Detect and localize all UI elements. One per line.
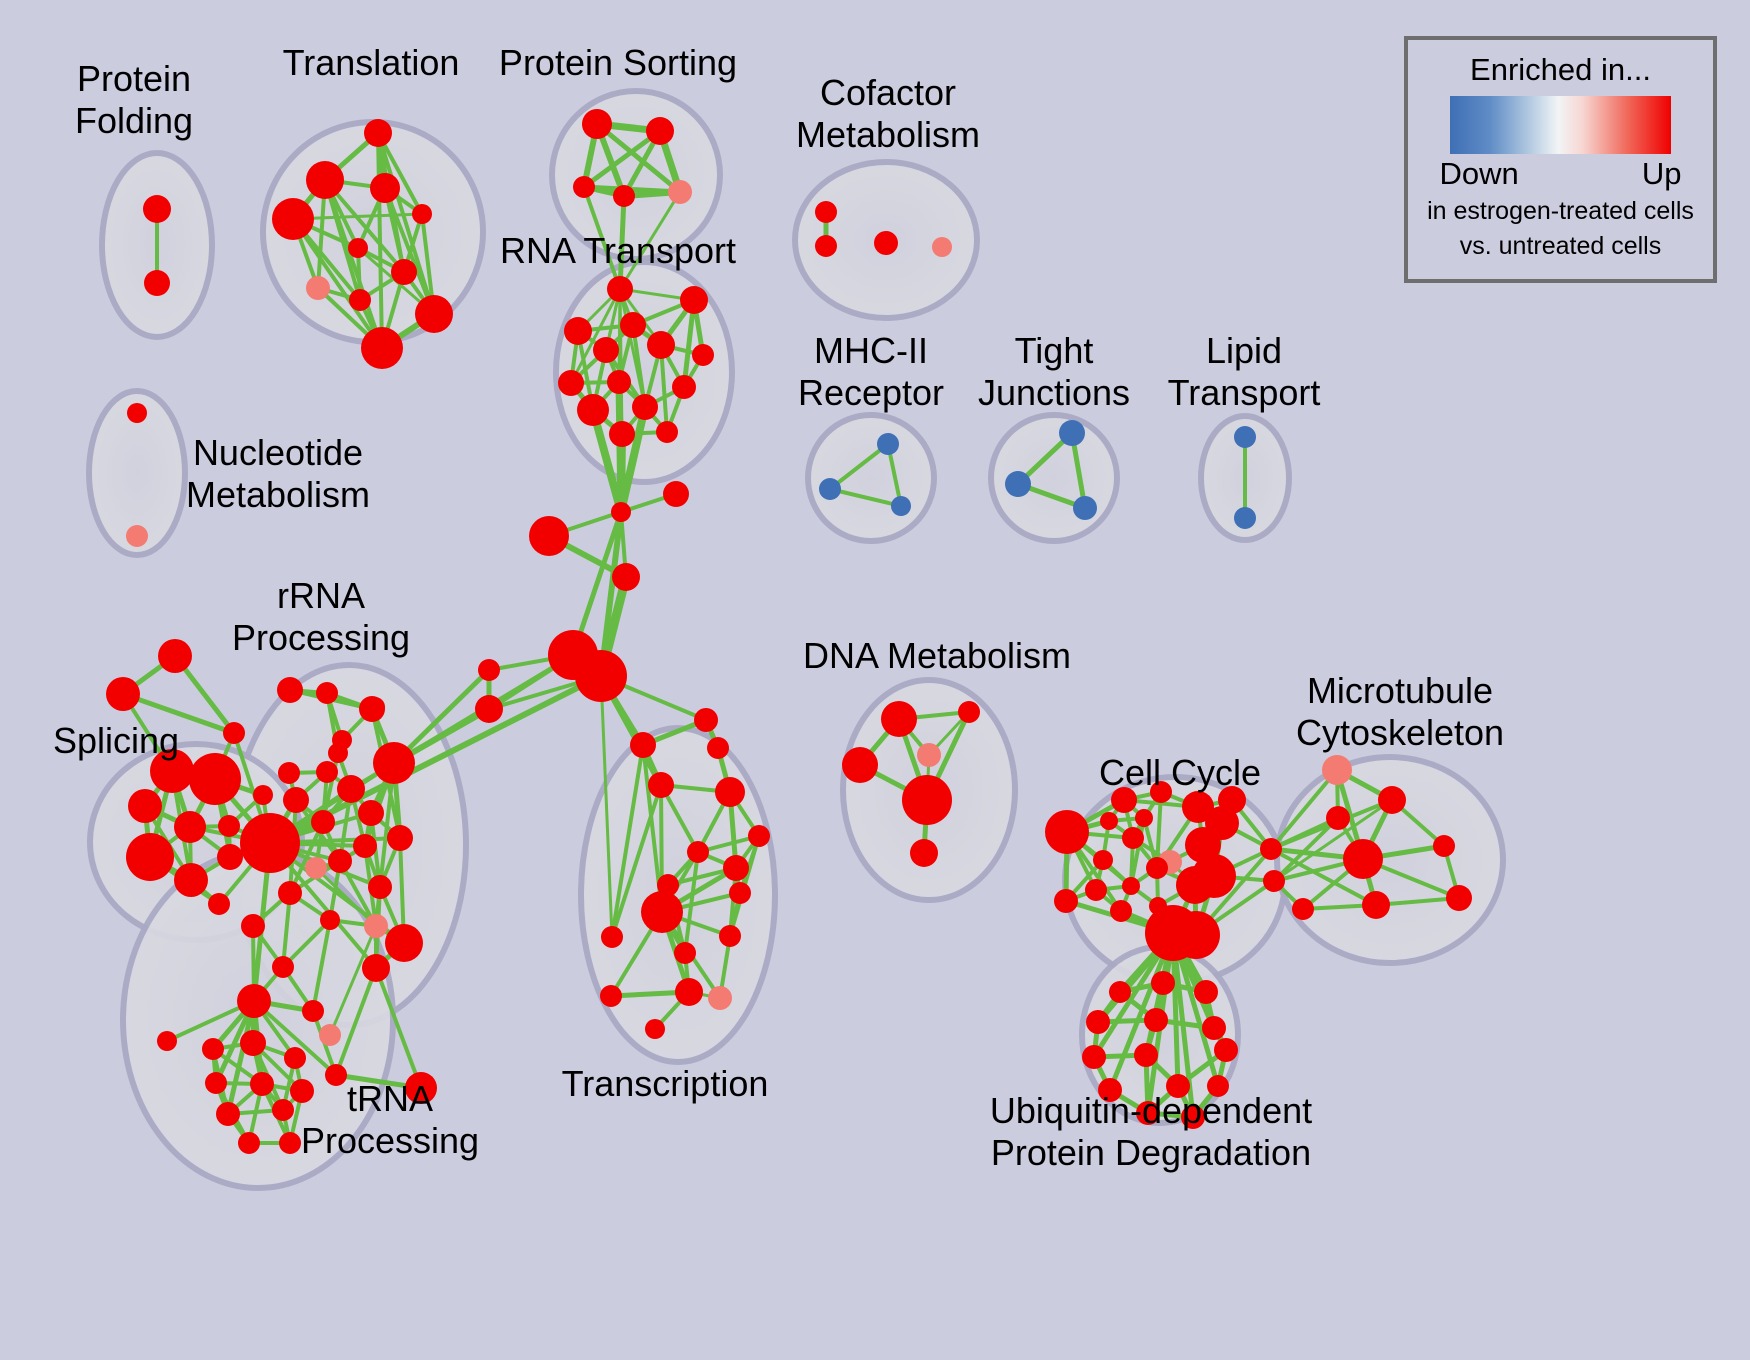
gene-set-node[interactable] (1073, 496, 1097, 520)
gene-set-node[interactable] (1146, 857, 1168, 879)
gene-set-node[interactable] (1150, 781, 1172, 803)
gene-set-node[interactable] (1176, 866, 1214, 904)
gene-set-node[interactable] (415, 295, 453, 333)
gene-set-node[interactable] (529, 516, 569, 556)
gene-set-node[interactable] (253, 785, 273, 805)
gene-set-node[interactable] (842, 747, 878, 783)
gene-set-node[interactable] (272, 1099, 294, 1121)
gene-set-node[interactable] (891, 496, 911, 516)
legend-title: Enriched in... (1408, 52, 1713, 88)
gene-set-node[interactable] (601, 926, 623, 948)
gene-set-node[interactable] (719, 925, 741, 947)
gene-set-node[interactable] (902, 775, 952, 825)
gene-set-node[interactable] (607, 370, 631, 394)
gene-set-node[interactable] (241, 914, 265, 938)
gene-set-node[interactable] (1054, 889, 1078, 913)
gene-set-node[interactable] (216, 1102, 240, 1126)
gene-set-node[interactable] (218, 815, 240, 837)
gene-set-node[interactable] (582, 109, 612, 139)
gene-set-node[interactable] (646, 117, 674, 145)
gene-set-node[interactable] (932, 237, 952, 257)
gene-set-node[interactable] (1086, 1010, 1110, 1034)
gene-set-node[interactable] (881, 701, 917, 737)
gene-set-node[interactable] (311, 810, 335, 834)
gene-set-node[interactable] (1234, 507, 1256, 529)
gene-set-node[interactable] (1093, 850, 1113, 870)
gene-set-node[interactable] (877, 433, 899, 455)
gene-set-node[interactable] (126, 525, 148, 547)
gene-set-node[interactable] (238, 1132, 260, 1154)
gene-set-node[interactable] (632, 394, 658, 420)
gene-set-node[interactable] (1082, 1045, 1106, 1069)
gene-set-node[interactable] (1263, 870, 1285, 892)
gene-set-node[interactable] (306, 276, 330, 300)
gene-set-node[interactable] (1234, 426, 1256, 448)
gene-set-node[interactable] (1166, 1074, 1190, 1098)
gene-set-node[interactable] (1322, 755, 1352, 785)
gene-set-node[interactable] (564, 317, 592, 345)
gene-set-node[interactable] (391, 259, 417, 285)
gene-set-node[interactable] (1343, 839, 1383, 879)
gene-set-node[interactable] (306, 161, 344, 199)
gene-set-node[interactable] (405, 1072, 437, 1104)
gene-set-node[interactable] (364, 119, 392, 147)
gene-set-node[interactable] (223, 722, 245, 744)
gene-set-node[interactable] (205, 1072, 227, 1094)
gene-set-node[interactable] (348, 238, 368, 258)
gene-set-node[interactable] (316, 761, 338, 783)
gene-set-node[interactable] (648, 772, 674, 798)
gene-set-node[interactable] (729, 882, 751, 904)
gene-set-node[interactable] (279, 1132, 301, 1154)
gene-set-node[interactable] (1111, 787, 1137, 813)
gene-set-node[interactable] (630, 732, 656, 758)
gene-set-node[interactable] (1446, 885, 1472, 911)
gene-set-node[interactable] (1194, 980, 1218, 1004)
gene-set-node[interactable] (620, 312, 646, 338)
gene-set-node[interactable] (1202, 1016, 1226, 1040)
gene-set-node[interactable] (573, 176, 595, 198)
gene-set-node[interactable] (748, 825, 770, 847)
gene-set-node[interactable] (611, 502, 631, 522)
gene-set-node[interactable] (202, 1038, 224, 1060)
gene-set-node[interactable] (708, 986, 732, 1010)
gene-set-node[interactable] (1122, 877, 1140, 895)
gene-set-node[interactable] (272, 198, 314, 240)
edge (619, 382, 621, 512)
gene-set-node[interactable] (692, 344, 714, 366)
gene-set-node[interactable] (1059, 420, 1085, 446)
gene-set-node[interactable] (278, 762, 300, 784)
gene-set-node[interactable] (575, 650, 627, 702)
gene-set-node[interactable] (189, 753, 241, 805)
gene-set-node[interactable] (302, 1000, 324, 1022)
gene-set-node[interactable] (1110, 900, 1132, 922)
gene-set-node[interactable] (593, 337, 619, 363)
legend-down-label: Down (1440, 156, 1519, 192)
gene-set-node[interactable] (1326, 806, 1350, 830)
cluster-ellipse-mhc-ii-receptor (808, 415, 934, 541)
gene-set-node[interactable] (316, 682, 338, 704)
gene-set-node[interactable] (1214, 1038, 1238, 1062)
gene-set-node[interactable] (174, 811, 206, 843)
gene-set-node[interactable] (362, 954, 390, 982)
gene-set-node[interactable] (240, 1030, 266, 1056)
gene-set-node[interactable] (158, 639, 192, 673)
gene-set-node[interactable] (600, 985, 622, 1007)
gene-set-node[interactable] (332, 730, 352, 750)
gene-set-node[interactable] (1181, 1105, 1205, 1129)
gene-set-node[interactable] (1134, 1043, 1158, 1067)
gene-set-node[interactable] (305, 857, 327, 879)
gene-set-node[interactable] (645, 1019, 665, 1039)
cluster-ellipses (89, 91, 1503, 1188)
legend-subtitle-line-1: in estrogen-treated cells (1408, 196, 1713, 227)
gene-set-node[interactable] (1172, 911, 1220, 959)
legend-up-label: Up (1642, 156, 1682, 192)
gene-set-node[interactable] (715, 777, 745, 807)
gene-set-node[interactable] (237, 984, 271, 1018)
gene-set-node[interactable] (1136, 1101, 1160, 1125)
gene-set-node[interactable] (694, 708, 718, 732)
gene-set-node[interactable] (126, 833, 174, 881)
gene-set-node[interactable] (656, 421, 678, 443)
gene-set-node[interactable] (958, 701, 980, 723)
gene-set-node[interactable] (358, 800, 384, 826)
gene-set-node[interactable] (1098, 1078, 1122, 1102)
gene-set-node[interactable] (1207, 1075, 1229, 1097)
gene-set-node[interactable] (349, 289, 371, 311)
gene-set-node[interactable] (680, 286, 708, 314)
gene-set-node[interactable] (240, 813, 300, 873)
gene-set-node[interactable] (874, 231, 898, 255)
gene-set-node[interactable] (668, 180, 692, 204)
gene-set-node[interactable] (278, 881, 302, 905)
gene-set-node[interactable] (723, 855, 749, 881)
gene-set-node[interactable] (577, 394, 609, 426)
gene-set-node[interactable] (208, 893, 230, 915)
gene-set-node[interactable] (328, 849, 352, 873)
gene-set-node[interactable] (128, 789, 162, 823)
gene-set-node[interactable] (373, 742, 415, 784)
gene-set-node[interactable] (217, 844, 243, 870)
legend-subtitle-line-2: vs. untreated cells (1408, 231, 1713, 262)
gene-set-node[interactable] (370, 173, 400, 203)
gene-set-node[interactable] (320, 910, 340, 930)
gene-set-node[interactable] (910, 839, 938, 867)
gene-set-node[interactable] (707, 737, 729, 759)
gene-set-node[interactable] (353, 834, 377, 858)
gene-set-node[interactable] (361, 327, 403, 369)
gene-set-node[interactable] (687, 841, 709, 863)
gene-set-node[interactable] (364, 914, 388, 938)
gene-set-node[interactable] (1122, 827, 1144, 849)
gene-set-node[interactable] (290, 1079, 314, 1103)
gene-set-node[interactable] (284, 1047, 306, 1069)
gene-set-node[interactable] (1433, 835, 1455, 857)
gene-set-node[interactable] (283, 787, 309, 813)
enrichment-network-figure: Protein FoldingTranslationProtein Sortin… (0, 0, 1750, 1360)
gene-set-node[interactable] (815, 235, 837, 257)
gene-set-node[interactable] (157, 1031, 177, 1051)
gene-set-node[interactable] (609, 421, 635, 447)
gene-set-node[interactable] (319, 1024, 341, 1046)
gene-set-node[interactable] (272, 956, 294, 978)
gene-set-node[interactable] (672, 375, 696, 399)
gene-set-node[interactable] (1085, 879, 1107, 901)
gene-set-node[interactable] (365, 697, 385, 717)
gene-set-node[interactable] (174, 863, 208, 897)
gene-set-node[interactable] (1005, 471, 1031, 497)
gene-set-node[interactable] (385, 924, 423, 962)
gene-set-node[interactable] (917, 743, 941, 767)
gene-set-node[interactable] (612, 563, 640, 591)
legend-panel: Enriched in... Down Up in estrogen-treat… (1404, 36, 1717, 283)
gene-set-node[interactable] (663, 481, 689, 507)
gene-set-node[interactable] (1109, 981, 1131, 1003)
gene-set-node[interactable] (815, 201, 837, 223)
gene-set-node[interactable] (250, 1072, 274, 1096)
gene-set-node[interactable] (277, 677, 303, 703)
legend-color-gradient-bar (1450, 96, 1671, 154)
gene-set-node[interactable] (607, 276, 633, 302)
gene-set-node[interactable] (337, 775, 365, 803)
gene-set-node[interactable] (1045, 810, 1089, 854)
gene-set-node[interactable] (127, 403, 147, 423)
gene-set-node[interactable] (1100, 812, 1118, 830)
gene-set-node[interactable] (368, 875, 392, 899)
gene-set-node[interactable] (325, 1064, 347, 1086)
gene-set-node[interactable] (819, 478, 841, 500)
gene-set-node[interactable] (613, 185, 635, 207)
gene-set-node[interactable] (1144, 1008, 1168, 1032)
gene-set-node[interactable] (387, 825, 413, 851)
gene-set-node[interactable] (478, 659, 500, 681)
gene-set-node[interactable] (641, 891, 683, 933)
gene-set-node[interactable] (1378, 786, 1406, 814)
gene-set-node[interactable] (144, 270, 170, 296)
gene-set-node[interactable] (143, 195, 171, 223)
gene-set-node[interactable] (674, 942, 696, 964)
gene-set-node[interactable] (558, 370, 584, 396)
gene-set-node[interactable] (1151, 971, 1175, 995)
gene-set-node[interactable] (647, 331, 675, 359)
gene-set-node[interactable] (675, 978, 703, 1006)
gene-set-node[interactable] (1260, 838, 1282, 860)
gene-set-node[interactable] (1362, 891, 1390, 919)
gene-set-node[interactable] (1135, 809, 1153, 827)
gene-set-node[interactable] (150, 749, 194, 793)
gene-set-node[interactable] (106, 677, 140, 711)
gene-set-node[interactable] (475, 695, 503, 723)
gene-set-node[interactable] (412, 204, 432, 224)
gene-set-node[interactable] (1292, 898, 1314, 920)
